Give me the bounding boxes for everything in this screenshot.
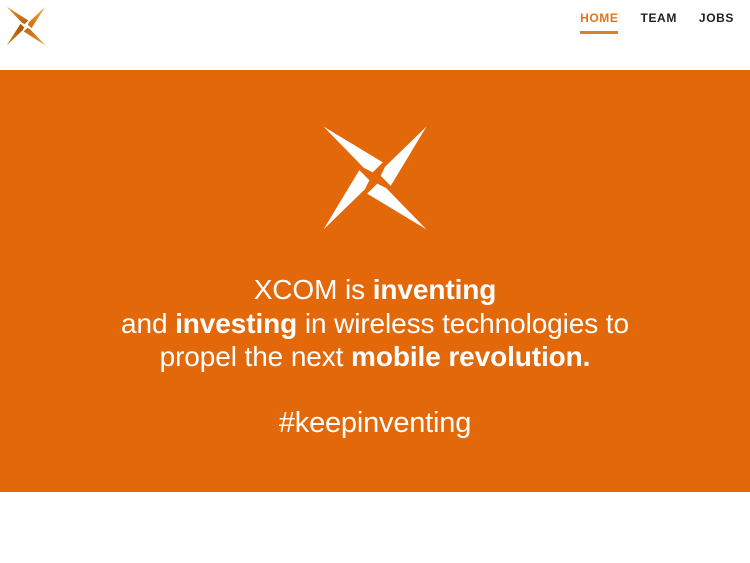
site-header: HOME TEAM JOBS [0,0,750,70]
brand-logo-link[interactable] [3,3,49,49]
main-navigation: HOME TEAM JOBS [580,11,734,37]
hero-xcom-logo-icon [319,122,431,234]
hero-hashtag: #keepinventing [0,406,750,440]
hero-headline: XCOM is inventing and investing in wirel… [0,273,750,374]
nav-item-team-label: TEAM [641,11,677,25]
hero-banner: XCOM is inventing and investing in wirel… [0,70,750,492]
nav-active-underline [580,31,618,34]
page-footer-area [0,492,750,563]
nav-item-jobs[interactable]: JOBS [699,11,734,37]
nav-item-team[interactable]: TEAM [641,11,677,37]
hero-headline-line-2: and investing in wireless technologies t… [0,307,750,341]
xcom-logo-icon [3,3,49,49]
nav-item-home-label: HOME [580,11,618,25]
nav-item-jobs-label: JOBS [699,11,734,25]
hero-headline-line-1: XCOM is inventing [0,273,750,307]
hero-headline-line-3: propel the next mobile revolution. [0,340,750,374]
nav-item-home[interactable]: HOME [580,11,618,37]
